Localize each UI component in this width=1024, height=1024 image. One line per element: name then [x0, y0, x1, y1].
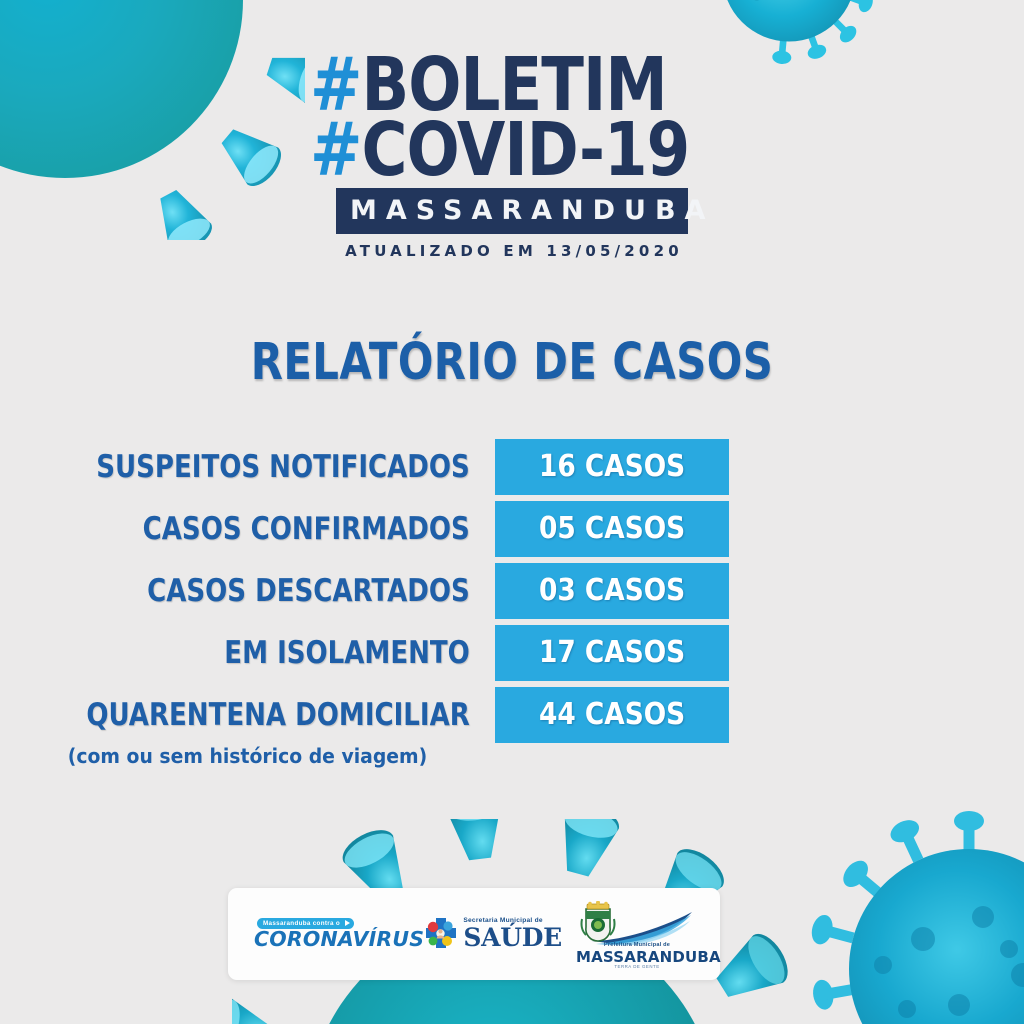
row-value-text: 16 CASOS — [539, 449, 685, 484]
virus-bottom-right-icon — [804, 804, 1024, 1024]
city-crest-icon — [578, 901, 618, 945]
city-banner: MASSARANDUBA — [336, 188, 688, 234]
table-row: EM ISOLAMENTO 17 CASOS — [0, 622, 1024, 683]
row-value-text: 44 CASOS — [539, 697, 685, 732]
title-lines: #BOLETIM #COVID-19 — [310, 56, 713, 180]
saude-text-block: Secretaria Municipal de SAÚDE — [463, 918, 562, 951]
row-value-text: 03 CASOS — [539, 573, 685, 608]
row-value-text: 17 CASOS — [539, 635, 685, 670]
updated-date: ATUALIZADO EM 13/05/2020 — [0, 242, 1024, 260]
secretaria-saude-logo: Secretaria Municipal de SAÚDE — [424, 917, 562, 951]
corona-wordmark: CORONAVÍRUS — [254, 929, 424, 951]
row-label-isolamento: EM ISOLAMENTO — [79, 635, 495, 671]
poster-root: #BOLETIM #COVID-19 MASSARANDUBA ATUALIZA… — [0, 0, 1024, 1024]
saude-wordmark: SAÚDE — [463, 925, 562, 950]
table-row: QUARENTENA DOMICILIAR 44 CASOS — [0, 684, 1024, 745]
corona-tagline: Massaranduba contra o — [257, 918, 354, 929]
table-row: SUSPEITOS NOTIFICADOS 16 CASOS — [0, 436, 1024, 497]
coronavirus-campaign-logo: Massaranduba contra o CORONAVÍRUS — [254, 918, 424, 951]
row-value-confirmados: 05 CASOS — [495, 501, 729, 557]
row-value-quarentena: 44 CASOS — [495, 687, 729, 743]
hash-glyph-2: # — [310, 107, 362, 193]
row-value-suspeitos: 16 CASOS — [495, 439, 729, 495]
title-line-covid: #COVID-19 — [310, 121, 689, 180]
row-value-text: 05 CASOS — [539, 511, 685, 546]
quarentena-note: (com ou sem histórico de viagem) — [15, 744, 480, 768]
prefeitura-massaranduba-logo: Prefeitura Municipal de MASSARANDUBA TER… — [562, 897, 694, 971]
header-logo-block: #BOLETIM #COVID-19 MASSARANDUBA ATUALIZA… — [0, 56, 1024, 260]
title-covid-text: COVID-19 — [362, 107, 690, 193]
footer-logo-bar: Massaranduba contra o CORONAVÍRUS Secret… — [228, 888, 720, 980]
table-row: CASOS DESCARTADOS 03 CASOS — [0, 560, 1024, 621]
health-cross-icon — [424, 917, 458, 951]
row-value-isolamento: 17 CASOS — [495, 625, 729, 681]
row-label-confirmados: CASOS CONFIRMADOS — [79, 511, 495, 547]
row-label-suspeitos: SUSPEITOS NOTIFICADOS — [79, 449, 495, 485]
page-title: RELATÓRIO DE CASOS — [92, 333, 932, 392]
prefeitura-slogan: TERRA DE GENTE — [582, 964, 692, 969]
row-value-descartados: 03 CASOS — [495, 563, 729, 619]
table-row: CASOS CONFIRMADOS 05 CASOS — [0, 498, 1024, 559]
row-label-quarentena: QUARENTENA DOMICILIAR — [79, 697, 495, 733]
row-label-descartados: CASOS DESCARTADOS — [79, 573, 495, 609]
report-table: SUSPEITOS NOTIFICADOS 16 CASOS CASOS CON… — [0, 436, 1024, 746]
